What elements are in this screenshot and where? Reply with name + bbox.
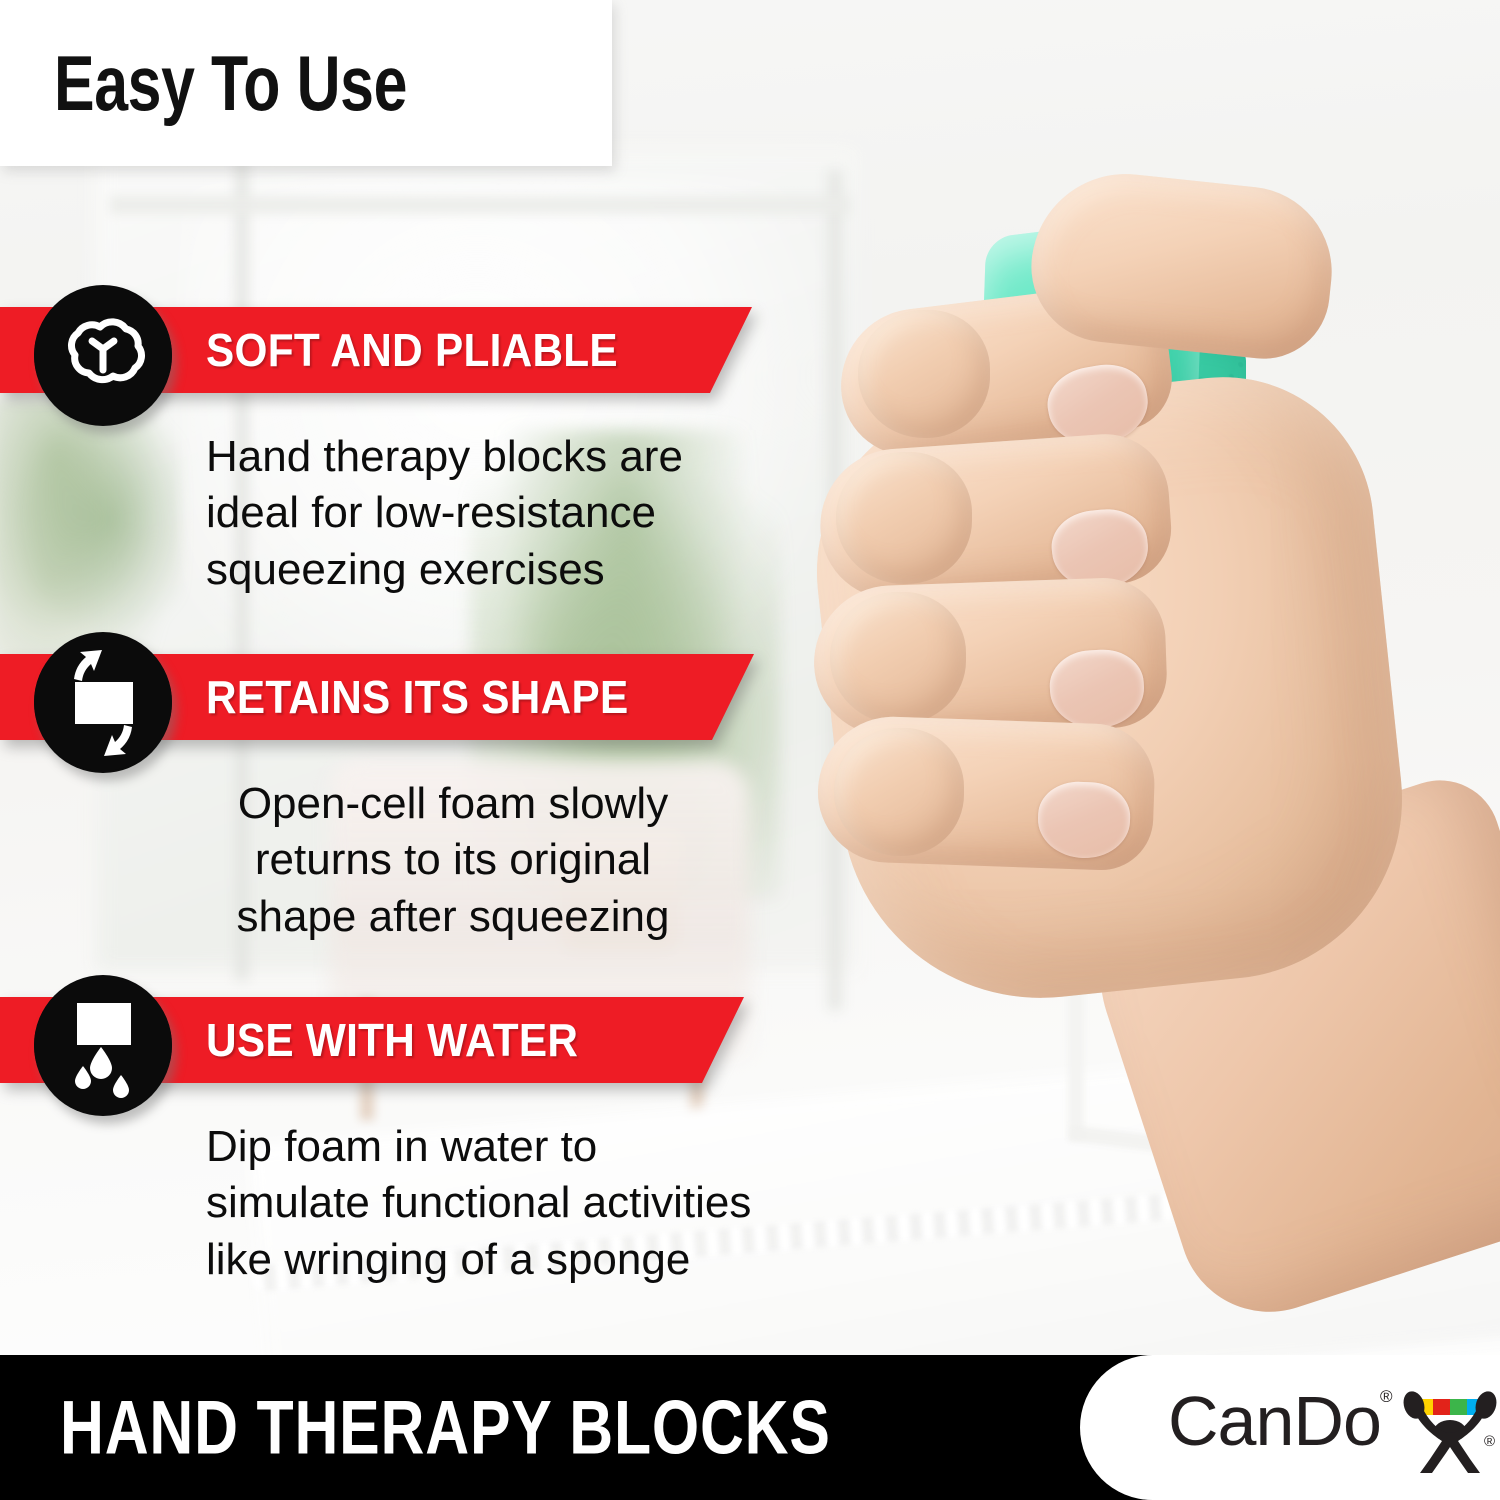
- knuckle-middle: [836, 452, 972, 584]
- feature-banner-label: RETAINS ITS SHAPE: [206, 670, 628, 724]
- feature-banner-label: USE WITH WATER: [206, 1013, 578, 1067]
- figure-registered-trademark-symbol: ®: [1484, 1433, 1495, 1450]
- knuckle-ring: [830, 592, 966, 724]
- feature-banner-label: SOFT AND PLIABLE: [206, 323, 618, 377]
- brand-logo-area: CanDo ® ®: [1080, 1355, 1500, 1500]
- feature-banner-row: RETAINS ITS SHAPE: [0, 632, 820, 774]
- foam-cloud-icon: [34, 285, 172, 426]
- feature-body-text: Dip foam in water to simulate functional…: [0, 1119, 820, 1288]
- feature-body-text: Hand therapy blocks are ideal for low-re…: [0, 429, 820, 598]
- feature-banner-row: SOFT AND PLIABLE: [0, 285, 820, 427]
- knuckle-pinky: [834, 728, 964, 856]
- window-sill: [110, 196, 850, 214]
- feature-body-text: Open-cell foam slowly returns to its ori…: [0, 776, 820, 945]
- dripping-sponge-icon: [34, 975, 172, 1116]
- feature-block-use-with-water: USE WITH WATER Dip foam in water to simu…: [0, 975, 820, 1288]
- infographic-page: Easy To Use SOFT AND PLIABLE Hand the: [0, 0, 1500, 1500]
- feature-banner-row: USE WITH WATER: [0, 975, 820, 1117]
- cando-person-icon: [1402, 1385, 1498, 1477]
- feature-block-soft-and-pliable: SOFT AND PLIABLE Hand therapy blocks are…: [0, 285, 820, 598]
- page-title: Easy To Use: [54, 44, 407, 122]
- product-name: HAND THERAPY BLOCKS: [60, 1384, 831, 1471]
- rotate-rectangle-icon: [34, 632, 172, 773]
- feature-block-retains-its-shape: RETAINS ITS SHAPE Open-cell foam slowly …: [0, 632, 820, 945]
- cando-wordmark: CanDo: [1168, 1381, 1381, 1461]
- footer-bar: HAND THERAPY BLOCKS CanDo ®: [0, 1355, 1500, 1500]
- product-hand-photo: [800, 180, 1500, 1180]
- registered-trademark-symbol: ®: [1380, 1387, 1393, 1407]
- knuckle-index: [858, 310, 990, 438]
- header-banner: Easy To Use: [0, 0, 612, 166]
